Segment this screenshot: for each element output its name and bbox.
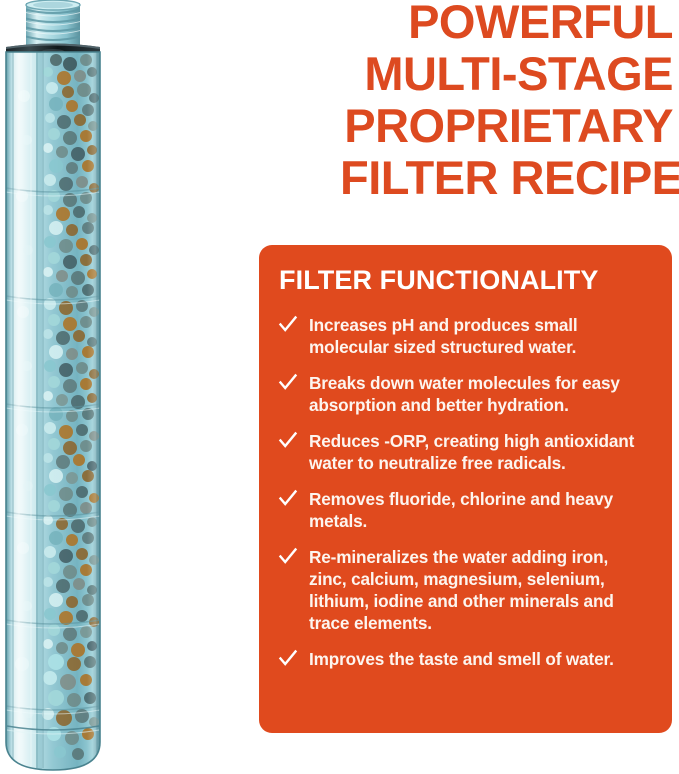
headline: POWERFUL MULTI-STAGE PROPRIETARY FILTER … xyxy=(340,0,673,204)
list-item: Removes fluoride, chlorine and heavy met… xyxy=(278,488,650,532)
list-item-label: Breaks down water molecules for easy abs… xyxy=(309,372,650,416)
check-icon xyxy=(278,373,298,393)
list-item-label: Increases pH and produces small molecula… xyxy=(309,314,650,358)
filter-body xyxy=(6,52,100,770)
headline-line-1: POWERFUL xyxy=(340,0,673,48)
water-filter-cartridge-image xyxy=(0,0,150,774)
list-item: Reduces -ORP, creating high antioxidant … xyxy=(278,430,650,474)
card-title: FILTER FUNCTIONALITY xyxy=(279,265,650,295)
list-item: Increases pH and produces small molecula… xyxy=(278,314,650,358)
list-item: Improves the taste and smell of water. xyxy=(278,648,650,670)
filter-functionality-card: FILTER FUNCTIONALITY Increases pH and pr… xyxy=(259,245,672,733)
headline-line-2: MULTI-STAGE xyxy=(340,48,673,100)
check-icon xyxy=(278,489,298,509)
list-item-label: Improves the taste and smell of water. xyxy=(309,648,650,670)
headline-line-3: PROPRIETARY xyxy=(340,100,673,152)
list-item-label: Re-mineralizes the water adding iron, zi… xyxy=(309,546,650,634)
list-item: Breaks down water molecules for easy abs… xyxy=(278,372,650,416)
headline-line-4: FILTER RECIPE xyxy=(340,152,673,204)
check-icon xyxy=(278,315,298,335)
list-item-label: Removes fluoride, chlorine and heavy met… xyxy=(309,488,650,532)
check-icon xyxy=(278,649,298,669)
check-icon xyxy=(278,547,298,567)
list-item-label: Reduces -ORP, creating high antioxidant … xyxy=(309,430,650,474)
list-item: Re-mineralizes the water adding iron, zi… xyxy=(278,546,650,634)
check-icon xyxy=(278,431,298,451)
filter-functionality-list: Increases pH and produces small molecula… xyxy=(278,314,650,670)
filter-neck xyxy=(24,0,82,47)
